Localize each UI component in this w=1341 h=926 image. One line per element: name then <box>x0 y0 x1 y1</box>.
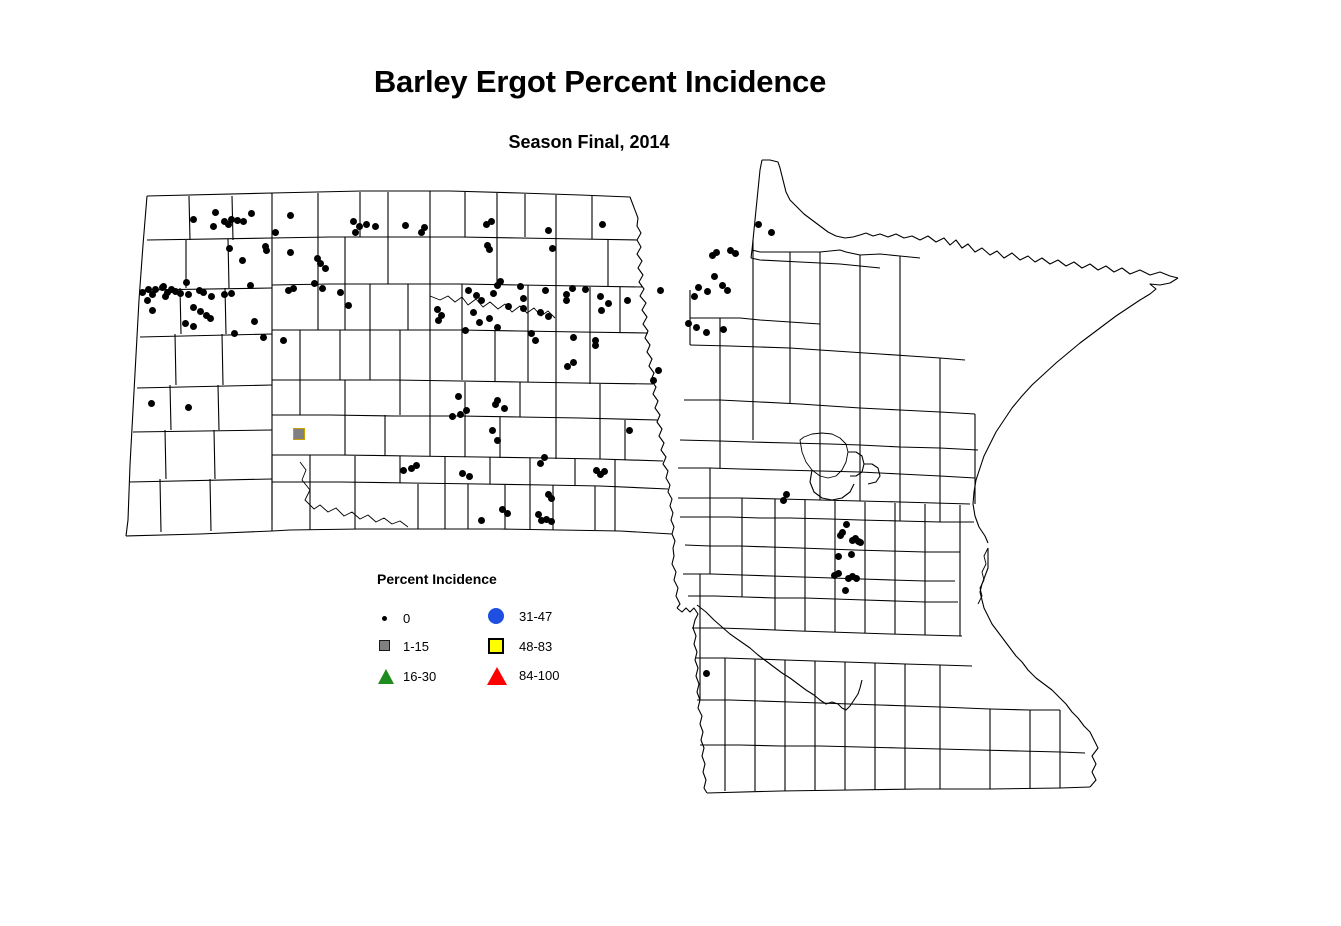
legend-symbol-red-triangle-icon <box>487 666 509 686</box>
map-marker-zero[interactable] <box>462 327 469 334</box>
map-marker-zero[interactable] <box>290 285 297 292</box>
map-marker-zero[interactable] <box>231 330 238 337</box>
map-marker-zero[interactable] <box>247 282 254 289</box>
state-county-outlines <box>126 160 1178 793</box>
legend-label-48-83: 48-83 <box>519 639 552 654</box>
map-marker-zero[interactable] <box>724 287 731 294</box>
map-marker-zero[interactable] <box>239 257 246 264</box>
map-marker-zero[interactable] <box>486 246 493 253</box>
map-marker-zero[interactable] <box>478 517 485 524</box>
map-marker-zero[interactable] <box>711 273 718 280</box>
map-marker-zero[interactable] <box>520 295 527 302</box>
map-marker-zero[interactable] <box>478 297 485 304</box>
map-marker-zero[interactable] <box>463 407 470 414</box>
map-legend: Percent Incidence 0 1-15 16-30 31-4 <box>377 571 592 693</box>
map-marker-zero[interactable] <box>483 221 490 228</box>
map-marker-zero[interactable] <box>655 367 662 374</box>
legend-symbol-green-triangle-icon <box>377 667 399 687</box>
map-marker-zero[interactable] <box>601 468 608 475</box>
map-marker-zero[interactable] <box>459 470 466 477</box>
map-marker-zero[interactable] <box>835 553 842 560</box>
map-marker-zero[interactable] <box>857 539 864 546</box>
map-marker-zero[interactable] <box>548 495 555 502</box>
map-marker-zero[interactable] <box>492 401 499 408</box>
map-marker-zero[interactable] <box>839 529 846 536</box>
map-marker-zero[interactable] <box>435 317 442 324</box>
map-marker-zero[interactable] <box>835 570 842 577</box>
map-marker-zero[interactable] <box>541 454 548 461</box>
map-marker-zero[interactable] <box>210 223 217 230</box>
map-marker-zero[interactable] <box>592 342 599 349</box>
map-marker-zero[interactable] <box>703 329 710 336</box>
map-marker-zero[interactable] <box>853 575 860 582</box>
map-marker-zero[interactable] <box>848 551 855 558</box>
map-marker-zero[interactable] <box>455 393 462 400</box>
map-marker-zero[interactable] <box>402 222 409 229</box>
map-marker-zero[interactable] <box>570 334 577 341</box>
map-marker-zero[interactable] <box>703 670 710 677</box>
map-marker-zero[interactable] <box>489 427 496 434</box>
map-marker-zero[interactable] <box>280 337 287 344</box>
map-marker-zero[interactable] <box>337 289 344 296</box>
map-marker-zero[interactable] <box>624 297 631 304</box>
map-marker-zero[interactable] <box>542 287 549 294</box>
map-marker-zero[interactable] <box>727 247 734 254</box>
map-marker-zero[interactable] <box>144 297 151 304</box>
map-marker-zero[interactable] <box>537 309 544 316</box>
map-marker-zero[interactable] <box>418 229 425 236</box>
map-marker-zero[interactable] <box>212 209 219 216</box>
map-marker-zero[interactable] <box>768 229 775 236</box>
map-marker-zero[interactable] <box>449 413 456 420</box>
map-marker-zero[interactable] <box>470 309 477 316</box>
legend-symbol-zero-dot-icon <box>377 609 399 629</box>
map-marker-zero[interactable] <box>605 300 612 307</box>
map-marker-zero[interactable] <box>693 324 700 331</box>
map-marker-zero[interactable] <box>494 324 501 331</box>
map-marker-zero[interactable] <box>494 437 501 444</box>
map-marker-zero[interactable] <box>148 400 155 407</box>
map-marker-zero[interactable] <box>528 330 535 337</box>
map-canvas[interactable] <box>0 0 1341 926</box>
map-marker-zero[interactable] <box>497 278 504 285</box>
map-marker-zero[interactable] <box>190 304 197 311</box>
map-marker-zero[interactable] <box>626 427 633 434</box>
map-marker-zero[interactable] <box>843 521 850 528</box>
map-marker-zero[interactable] <box>372 223 379 230</box>
map-marker-zero[interactable] <box>162 293 169 300</box>
map-marker-zero[interactable] <box>190 323 197 330</box>
map-marker-zero[interactable] <box>517 283 524 290</box>
map-marker-zero[interactable] <box>532 337 539 344</box>
map-marker-zero[interactable] <box>182 320 189 327</box>
map-marker-zero[interactable] <box>657 287 664 294</box>
map-marker-zero[interactable] <box>345 302 352 309</box>
map-marker-zero[interactable] <box>597 293 604 300</box>
county-map-svg[interactable] <box>0 0 1341 926</box>
map-marker-zero[interactable] <box>476 319 483 326</box>
map-marker-zero[interactable] <box>287 212 294 219</box>
map-marker-zero[interactable] <box>520 305 527 312</box>
map-marker-zero[interactable] <box>226 245 233 252</box>
legend-title: Percent Incidence <box>377 571 497 587</box>
map-marker-zero[interactable] <box>501 405 508 412</box>
map-marker-zero[interactable] <box>240 218 247 225</box>
map-marker-zero[interactable] <box>548 518 555 525</box>
map-marker-zero[interactable] <box>570 359 577 366</box>
map-marker-zero[interactable] <box>504 510 511 517</box>
map-marker-zero[interactable] <box>145 286 152 293</box>
map-marker-zero[interactable] <box>319 285 326 292</box>
map-marker-zero[interactable] <box>564 363 571 370</box>
legend-label-1-15: 1-15 <box>403 639 429 654</box>
map-marker-zero[interactable] <box>599 221 606 228</box>
map-marker-zero[interactable] <box>720 326 727 333</box>
map-marker-zero[interactable] <box>221 291 228 298</box>
legend-symbol-yellow-square-icon <box>487 637 509 657</box>
map-marker-zero[interactable] <box>486 315 493 322</box>
map-marker-zero[interactable] <box>160 283 167 290</box>
map-marker-zero[interactable] <box>691 293 698 300</box>
map-marker-zero[interactable] <box>465 287 472 294</box>
map-marker-zero[interactable] <box>598 307 605 314</box>
map-marker-zero[interactable] <box>177 290 184 297</box>
map-marker-zero[interactable] <box>149 307 156 314</box>
map-marker-zero[interactable] <box>490 290 497 297</box>
legend-symbol-blue-circle-icon <box>487 607 509 627</box>
legend-label-0: 0 <box>403 611 410 626</box>
map-marker-zero[interactable] <box>196 287 203 294</box>
map-marker-zero[interactable] <box>780 497 787 504</box>
legend-label-84-100: 84-100 <box>519 668 559 683</box>
map-marker-zero[interactable] <box>582 286 589 293</box>
map-marker-zero[interactable] <box>537 460 544 467</box>
map-marker-zero[interactable] <box>183 279 190 286</box>
map-marker-zero[interactable] <box>322 265 329 272</box>
map-marker-zero[interactable] <box>185 404 192 411</box>
legend-label-16-30: 16-30 <box>403 669 436 684</box>
map-marker-zero[interactable] <box>505 303 512 310</box>
map-marker-zero[interactable] <box>272 229 279 236</box>
map-marker-zero[interactable] <box>263 247 270 254</box>
map-marker-zero[interactable] <box>363 221 370 228</box>
map-marker-zero[interactable] <box>569 285 576 292</box>
map-marker-zero[interactable] <box>287 249 294 256</box>
map-marker-zero[interactable] <box>842 587 849 594</box>
legend-symbol-gray-square-icon <box>377 637 399 657</box>
map-marker-zero[interactable] <box>549 245 556 252</box>
map-marker-zero[interactable] <box>545 227 552 234</box>
map-marker-zero[interactable] <box>650 377 657 384</box>
map-marker-zero[interactable] <box>208 293 215 300</box>
map-marker-zero[interactable] <box>695 284 702 291</box>
map-marker-zero[interactable] <box>755 221 762 228</box>
map-marker-zero[interactable] <box>713 249 720 256</box>
map-marker-zero[interactable] <box>704 288 711 295</box>
map-marker-zero[interactable] <box>248 210 255 217</box>
map-marker-zero[interactable] <box>685 320 692 327</box>
map-marker-zero[interactable] <box>225 221 232 228</box>
map-marker-zero[interactable] <box>783 491 790 498</box>
map-marker-zero[interactable] <box>545 313 552 320</box>
map-page: Barley Ergot Percent Incidence Season Fi… <box>0 0 1341 926</box>
map-marker-zero[interactable] <box>207 315 214 322</box>
map-marker-zero[interactable] <box>352 229 359 236</box>
map-marker-zero[interactable] <box>408 465 415 472</box>
map-marker-zero[interactable] <box>260 334 267 341</box>
map-marker-zero[interactable] <box>185 291 192 298</box>
map-marker-zero[interactable] <box>311 280 318 287</box>
legend-label-31-47: 31-47 <box>519 609 552 624</box>
map-marker-1-15[interactable] <box>293 428 305 440</box>
map-marker-zero[interactable] <box>466 473 473 480</box>
map-marker-zero[interactable] <box>228 290 235 297</box>
map-marker-zero[interactable] <box>563 297 570 304</box>
map-marker-zero[interactable] <box>251 318 258 325</box>
map-marker-zero[interactable] <box>190 216 197 223</box>
map-marker-zero[interactable] <box>139 289 146 296</box>
map-marker-zero[interactable] <box>400 467 407 474</box>
